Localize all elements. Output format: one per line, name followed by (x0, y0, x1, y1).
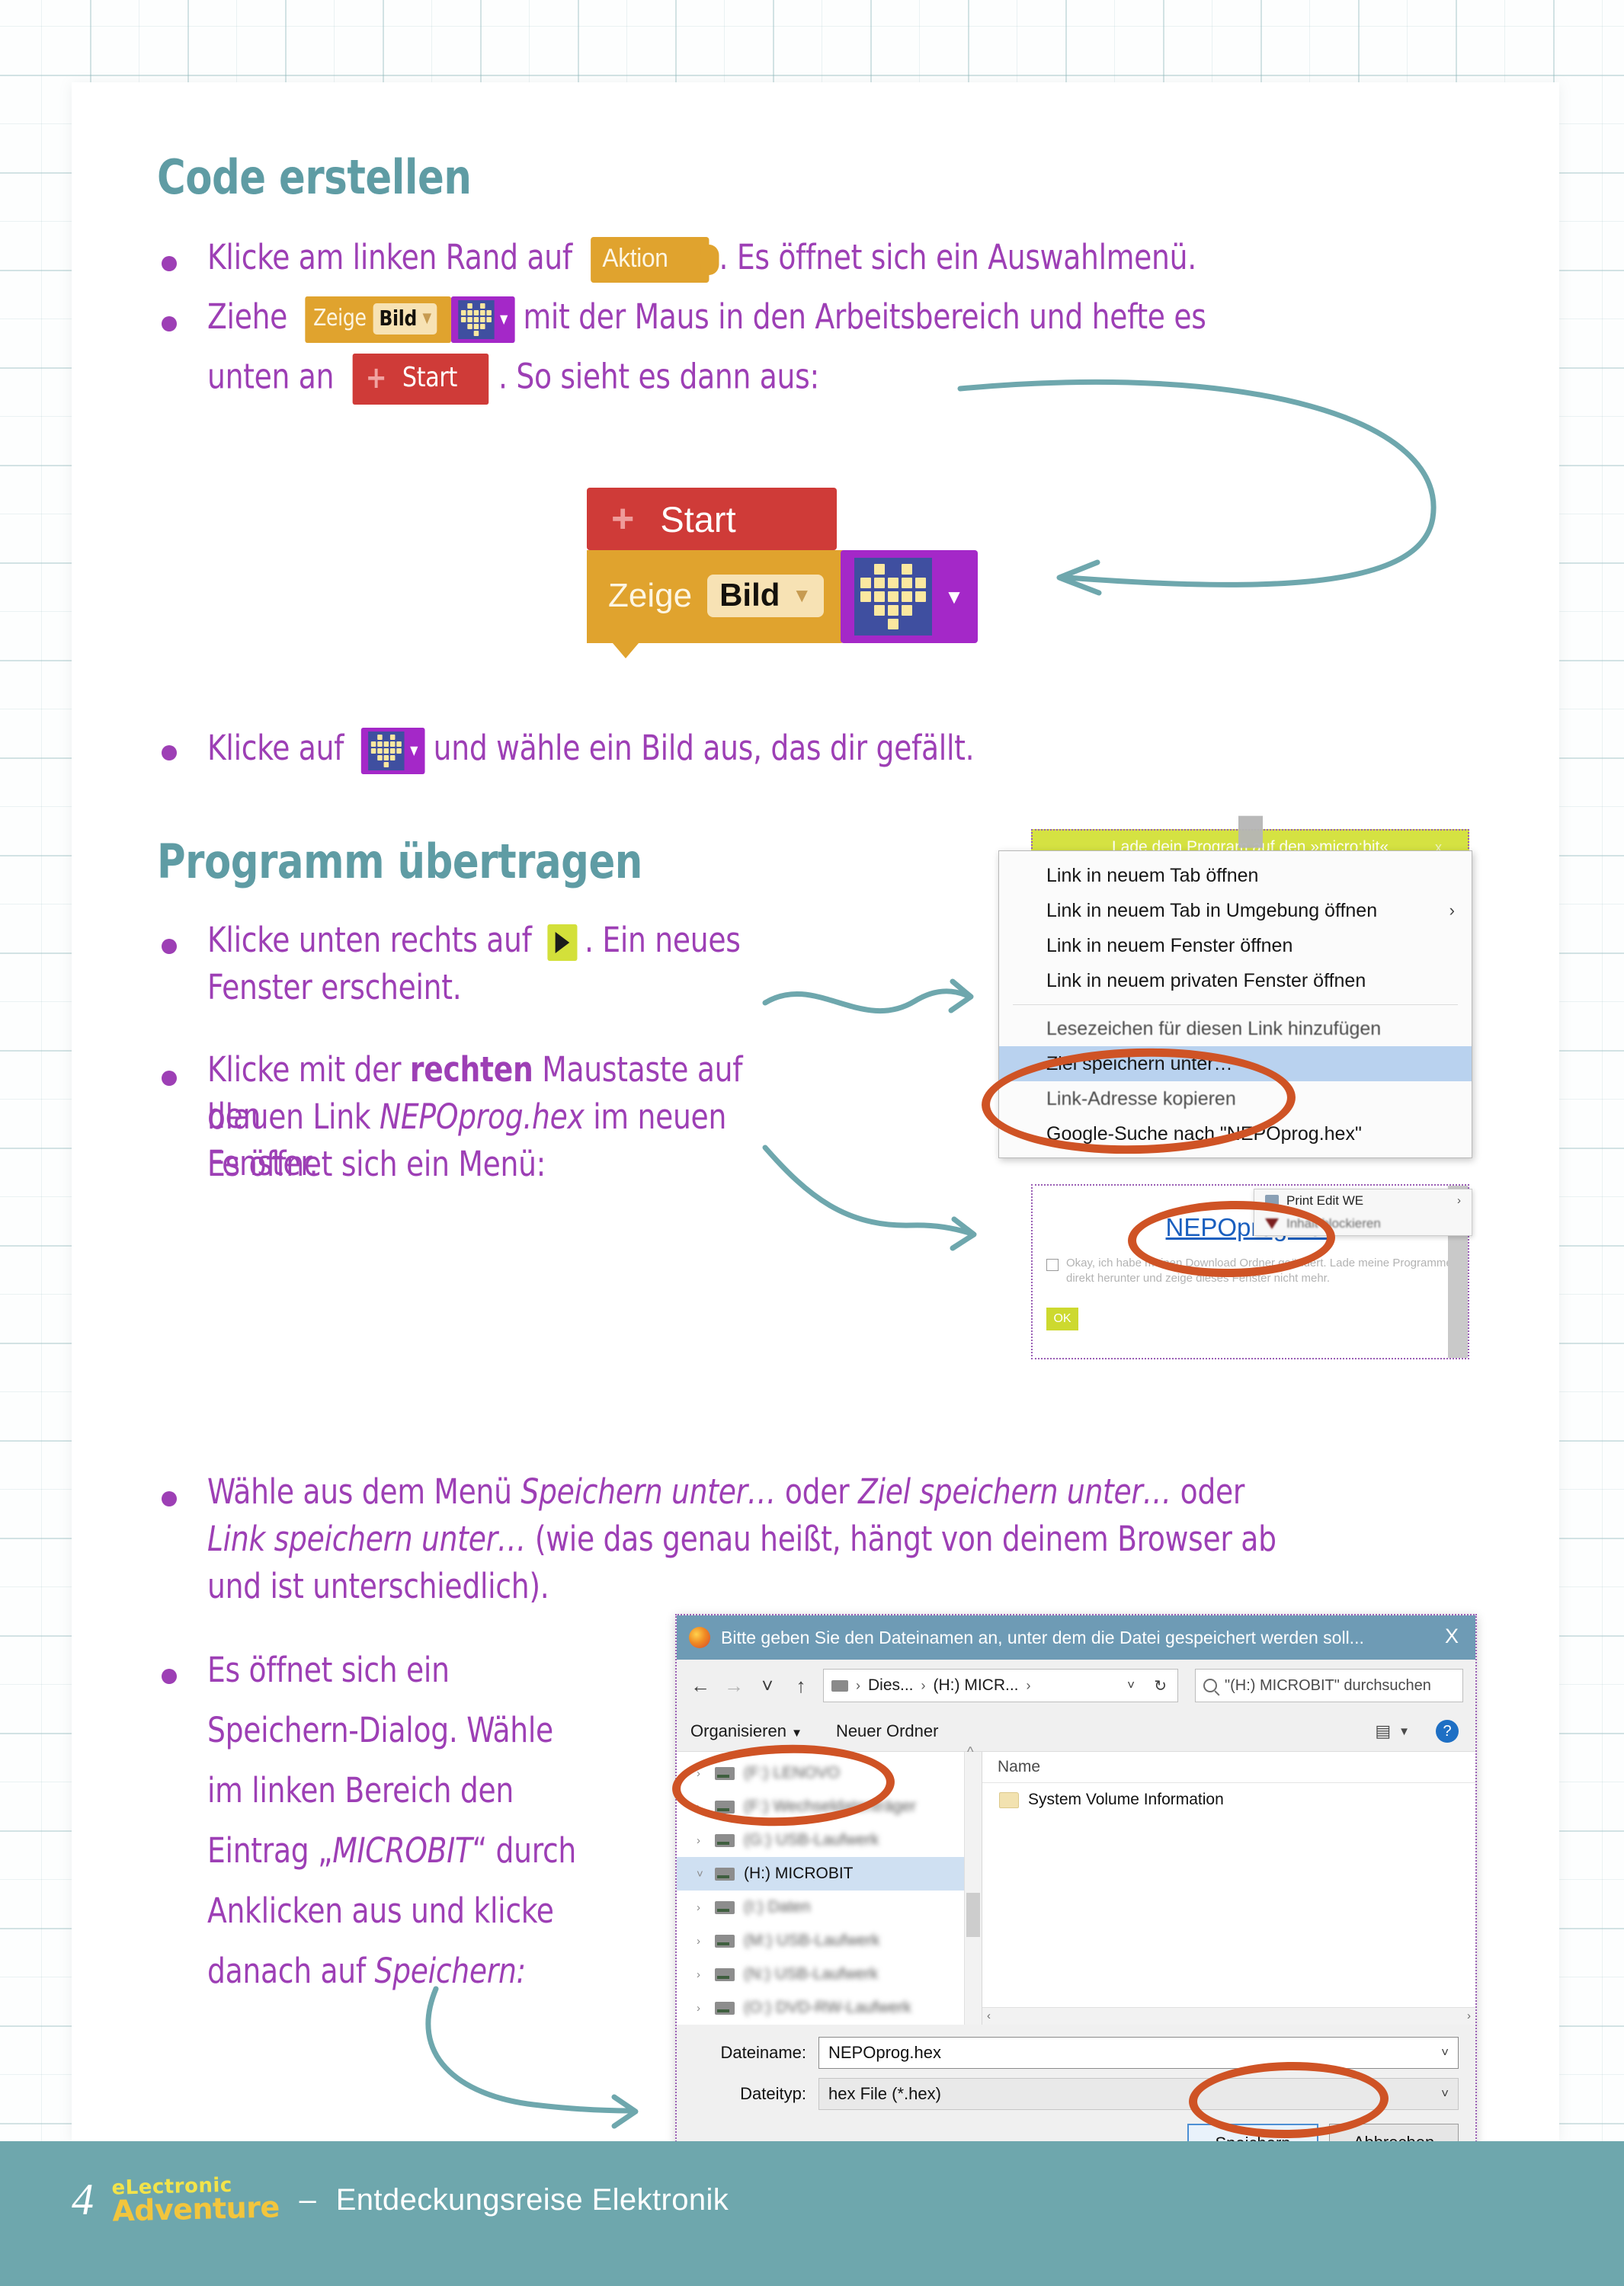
context-menu-item-label: Link in neuem Tab öffnen (1046, 865, 1258, 886)
block-zeige-label: Zeige (313, 303, 367, 335)
page-number: 4 (72, 2178, 92, 2222)
context-menu-item-label: Link in neuem Fenster öffnen (1046, 935, 1292, 956)
plus-icon: + (611, 504, 634, 534)
text-waehle-aus-menue: Wähle aus dem Menü (207, 1471, 521, 1512)
chevron-right-icon: › (1457, 1189, 1461, 1212)
instruction-dialog-l1: Es öffnet sich ein (207, 1647, 633, 1694)
context-menu-item[interactable]: Link in neuem Tab in Umgebung öffnen› (999, 893, 1472, 928)
chevron-icon[interactable]: › (697, 2002, 706, 2015)
context-menu-screenshot: Lade dein Program auf den »micro:bit« x … (998, 829, 1501, 1362)
instruction-ziehe: Ziehe Zeige Bild ▼ ▼ mit der Maus in den… (207, 294, 1356, 343)
play-triangle-icon (556, 932, 570, 953)
instruction-ziehe-pre: Ziehe (207, 296, 287, 337)
led-off (888, 564, 898, 575)
led-off (384, 735, 389, 740)
led-matrix-icon (368, 732, 404, 770)
instruction-menue-oeffnet: Es öffnet sich ein Menü: (207, 1141, 789, 1188)
led-on (860, 591, 871, 602)
tree-item-label: (M:) USB-Laufwerk (744, 1932, 880, 1950)
block-zeige-body[interactable]: Zeige Bild ▼ (305, 296, 451, 343)
led-off (390, 762, 396, 767)
tree-scrollbar[interactable] (964, 1752, 982, 2025)
led-off (371, 735, 376, 740)
dropdown-bild-label: Bild (719, 577, 780, 613)
led-on (377, 755, 383, 760)
block-zeige-bild[interactable]: Zeige Bild ▼ (587, 550, 844, 643)
sort-caret-icon: ^ (967, 1744, 973, 1760)
filename-input[interactable]: NEPOprog.hex ˅ (818, 2037, 1459, 2069)
led-on (390, 748, 396, 754)
instruction-ziehe-mid: mit der Maus in den Arbeitsbereich und h… (523, 296, 1206, 337)
text-microbit: MICROBIT (332, 1830, 472, 1871)
led-on (486, 310, 492, 315)
help-icon[interactable]: ? (1436, 1720, 1459, 1743)
dialog-titlebar: Bitte geben Sie den Dateinamen an, unter… (677, 1615, 1475, 1660)
led-on (474, 324, 479, 329)
code-block-assembly[interactable]: + Start Zeige Bild ▼ ▼ (587, 488, 978, 643)
list-view-icon: ▤ (1375, 1721, 1391, 1741)
chevron-icon[interactable]: › (697, 1935, 706, 1948)
filetype-value: hex File (*.hex) (828, 2084, 941, 2104)
led-off (371, 762, 376, 767)
logo-line-2: Adventure (112, 2194, 280, 2224)
play-button-icon[interactable] (548, 924, 578, 961)
scrollbar-stub (1238, 816, 1263, 848)
filename-label: Dateiname: (693, 2043, 806, 2063)
instruction-klicke-unten-rechts: Klicke unten rechts auf (207, 920, 532, 960)
led-on (902, 564, 912, 575)
led-off (461, 324, 466, 329)
led-on (474, 317, 479, 322)
drive-icon (715, 1868, 735, 1881)
led-on (874, 605, 885, 616)
led-off (860, 564, 871, 575)
instruction-aktion-pre: Klicke am linken Rand auf (207, 237, 572, 277)
led-on (480, 324, 485, 329)
instruction-fenster-erscheint: Fenster erscheint. (207, 965, 774, 1011)
dialog-title: Bitte geben Sie den Dateinamen an, unter… (721, 1628, 1364, 1648)
forward-icon: → (722, 1674, 745, 1698)
up-icon[interactable]: ↑ (790, 1674, 812, 1698)
led-on (390, 735, 396, 740)
dropdown-bild-label: Bild (379, 304, 417, 333)
led-off (467, 331, 472, 336)
tree-item[interactable]: ›(O:) DVD-RW-Laufwerk (677, 1991, 982, 2025)
led-on (377, 748, 383, 754)
led-matrix-icon (854, 558, 932, 636)
file-row[interactable]: System Volume Information (982, 1783, 1475, 1817)
instruction-waehle-menue: Wähle aus dem Menü Speichern unter… oder… (207, 1469, 1369, 1516)
led-on (371, 741, 376, 747)
filename-value: NEPOprog.hex (828, 2043, 941, 2063)
chevron-icon[interactable]: ˅ (697, 1868, 706, 1881)
instruction-klicke-auf: Klicke auf (207, 728, 344, 768)
tree-item-label: (G:) USB-Laufwerk (744, 1831, 879, 1849)
text-rechten: rechten (410, 1049, 533, 1090)
led-off (860, 605, 871, 616)
text-blauen-link: blauen Link (207, 1097, 380, 1137)
block-start-label: Start (660, 498, 735, 540)
context-menu-item-label: Lesezeichen für diesen Link hinzufügen (1046, 1018, 1381, 1039)
search-input[interactable]: "(H:) MICROBIT" durchsuchen (1195, 1669, 1463, 1702)
led-off (396, 762, 402, 767)
tree-item[interactable]: ›(G:) USB-Laufwerk (677, 1823, 982, 1857)
led-on (874, 591, 885, 602)
led-on (390, 755, 396, 760)
breadcrumb-item-0[interactable]: Dies... (868, 1676, 914, 1695)
text-link-speichern-unter: Link speichern unter… (207, 1519, 526, 1559)
led-on (467, 303, 472, 309)
bullet-dot (162, 1669, 177, 1684)
text-klicke-mit-der: Klicke mit der (207, 1049, 410, 1090)
led-off (486, 324, 492, 329)
led-off (915, 605, 926, 616)
context-menu-item[interactable]: Link in neuem privaten Fenster öffnen (999, 963, 1472, 998)
text-oder-2: oder (1171, 1471, 1244, 1512)
chevron-down-icon[interactable]: ˅ (1441, 2086, 1449, 2102)
led-on (396, 748, 402, 754)
horizontal-scrollbar[interactable]: ‹ › (982, 2007, 1475, 2025)
block-notch (613, 643, 639, 658)
led-off (371, 755, 376, 760)
text-browser-hinweis: (wie das genau heißt, hängt von deinem B… (526, 1519, 1276, 1559)
instruction-ein-neues: . Ein neues (585, 920, 741, 960)
bullet-dot (162, 316, 177, 331)
led-on (396, 741, 402, 747)
led-on (874, 578, 885, 588)
file-column-header-label: Name (998, 1758, 1040, 1776)
instruction-klicke-play: Klicke unten rechts auf . Ein neues (207, 917, 774, 964)
block-zeige-label: Zeige (608, 577, 692, 615)
chevron-down-icon: ▼ (1398, 1725, 1410, 1738)
brand-logo: eLectronic Adventure (111, 2176, 280, 2224)
context-menu-item[interactable]: Lesezeichen für diesen Link hinzufügen (999, 1011, 1472, 1046)
led-matrix-icon (458, 300, 494, 339)
led-off (461, 331, 466, 336)
led-on (480, 303, 485, 309)
ok-button[interactable]: OK (1046, 1308, 1078, 1330)
instruction-dialog-l3: im linken Bereich den (207, 1768, 647, 1814)
block-zeige-bild-inline[interactable]: Zeige Bild ▼ ▼ (305, 296, 514, 343)
view-options[interactable]: ▤ ▼ (1375, 1721, 1410, 1741)
instruction-dialog-l2: Speichern-Dialog. Wähle (207, 1708, 647, 1754)
instruction-dialog-l6: danach auf Speichern: (207, 1948, 647, 1995)
file-name: System Volume Information (1028, 1791, 1224, 1809)
filename-row: Dateiname: NEPOprog.hex ˅ (693, 2037, 1459, 2069)
text-nepoprog-hex: NEPOprog.hex (380, 1097, 585, 1137)
led-on (384, 762, 389, 767)
drive-icon (715, 1834, 735, 1847)
led-on (888, 578, 898, 588)
context-menu-item[interactable]: Link in neuem Fenster öffnen (999, 928, 1472, 963)
led-on (377, 741, 383, 747)
block-start-label: Start (402, 360, 457, 397)
context-menu-item-label: Link in neuem Tab in Umgebung öffnen (1046, 900, 1377, 921)
led-on (467, 317, 472, 322)
led-on (384, 748, 389, 754)
bullet-dot (162, 1491, 177, 1506)
bullet-dot (162, 1071, 177, 1086)
plus-icon: + (366, 366, 387, 390)
instruction-dialog-l5: Anklicken aus und klicke (207, 1888, 661, 1935)
bullet-dot (162, 939, 177, 954)
breadcrumb-sep: › (1027, 1678, 1031, 1694)
led-off (486, 331, 492, 336)
block-led-image[interactable]: ▼ (361, 728, 424, 774)
led-off (902, 619, 912, 629)
save-as-dialog[interactable]: Bitte geben Sie den Dateinamen an, unter… (675, 1614, 1477, 2147)
drive-icon (831, 1680, 848, 1692)
chevron-down-icon: ▼ (422, 309, 431, 328)
text-oder-1: oder (776, 1471, 858, 1512)
close-icon[interactable]: X (1445, 1625, 1459, 1648)
block-led-image[interactable]: ▼ (841, 550, 978, 643)
text-ziel-speichern-unter: Ziel speichern unter… (858, 1471, 1171, 1512)
led-on (888, 591, 898, 602)
file-list[interactable]: ^ Name System Volume Information ‹ › (982, 1752, 1475, 2025)
dialog-navbar: ← → ˅ ↑ › Dies... › (H:) MICR... › ˅ ↻ "… (677, 1660, 1475, 1711)
led-on (902, 591, 912, 602)
tree-item-label: (H:) MICROBIT (744, 1865, 853, 1883)
chevron-icon[interactable]: › (697, 1968, 706, 1981)
led-on (915, 591, 926, 602)
led-on (480, 317, 485, 322)
organize-label: Organisieren (690, 1721, 786, 1740)
checkbox-icon[interactable] (1046, 1259, 1059, 1271)
text-speichern: Speichern: (375, 1951, 526, 1991)
tree-item-label: (N:) USB-Laufwerk (744, 1965, 878, 1983)
chevron-down-icon[interactable]: ˅ (1127, 1678, 1135, 1693)
tree-item-label: (I:) Daten (744, 1898, 811, 1916)
led-off (874, 619, 885, 629)
led-off (480, 331, 485, 336)
led-on (371, 748, 376, 754)
drive-icon (715, 1901, 735, 1914)
file-column-header[interactable]: ^ Name (982, 1752, 1475, 1783)
menu-separator (1013, 1004, 1458, 1005)
led-on (384, 741, 389, 747)
led-on (474, 331, 479, 336)
led-on (390, 741, 396, 747)
drive-icon (715, 1935, 735, 1948)
led-off (396, 735, 402, 740)
chevron-right-icon: › (1449, 893, 1455, 928)
led-on (888, 619, 898, 629)
text-durch: “ durch (472, 1830, 576, 1871)
led-on (486, 317, 492, 322)
led-on (384, 755, 389, 760)
led-on (860, 578, 871, 588)
led-on (902, 605, 912, 616)
heading-code-erstellen: Code erstellen (157, 149, 471, 205)
instruction-klicke-bild: Klicke auf ▼ und wähle ein Bild aus, das… (207, 725, 1356, 774)
led-on (874, 564, 885, 575)
scroll-left-icon[interactable]: ‹ (987, 2009, 991, 2022)
instruction-waehle-bild: und wähle ein Bild aus, das dir gefällt. (434, 728, 975, 768)
instruction-link-speichern: Link speichern unter… (wie das genau hei… (207, 1516, 1398, 1563)
tree-item[interactable]: ›(N:) USB-Laufwerk (677, 1958, 982, 1991)
led-off (486, 303, 492, 309)
bullet-dot (162, 745, 177, 760)
block-aktion[interactable]: Aktion (591, 237, 709, 283)
led-on (461, 317, 466, 322)
instruction-aktion: Klicke am linken Rand auf Aktion. Es öff… (207, 235, 1341, 283)
breadcrumb-sep: › (921, 1678, 926, 1694)
led-on (467, 324, 472, 329)
page-footer: 4 eLectronic Adventure – Entdeckungsreis… (0, 2141, 1624, 2286)
instruction-aktion-post: . Es öffnet sich ein Auswahlmenü. (719, 237, 1196, 277)
text-danach-auf: danach auf (207, 1951, 375, 1991)
search-placeholder: "(H:) MICROBIT" durchsuchen (1225, 1677, 1431, 1695)
instruction-unterschiedlich: und ist unterschiedlich). (207, 1564, 1058, 1610)
chevron-down-icon: ▼ (791, 1727, 802, 1740)
firefox-icon (689, 1627, 710, 1648)
bullet-dot (162, 256, 177, 271)
led-off (396, 755, 402, 760)
led-on (902, 578, 912, 588)
submenu-item-label: Print Edit WE (1286, 1193, 1363, 1208)
led-on (461, 310, 466, 315)
text-eintrag: Eintrag „ (207, 1830, 332, 1871)
led-off (915, 619, 926, 629)
chevron-down-icon: ▼ (500, 311, 508, 328)
block-led-image[interactable]: ▼ (451, 296, 514, 343)
refresh-icon[interactable]: ↻ (1154, 1676, 1167, 1695)
instruction-dialog-l4: Eintrag „MICROBIT“ durch (207, 1828, 647, 1875)
led-off (461, 303, 466, 309)
chevron-icon[interactable]: › (697, 1834, 706, 1847)
chevron-down-icon: ▼ (410, 742, 418, 759)
back-icon[interactable]: ← (689, 1674, 712, 1698)
led-off (915, 564, 926, 575)
chevron-down-icon[interactable]: ˅ (1441, 2045, 1449, 2060)
tree-item[interactable]: ˅(H:) MICROBIT (677, 1857, 982, 1891)
tree-item[interactable]: ›(M:) USB-Laufwerk (677, 1924, 982, 1958)
block-start-inline[interactable]: + Start (353, 354, 488, 405)
dropdown-bild[interactable]: Bild ▼ (373, 303, 437, 335)
scroll-right-icon[interactable]: › (1467, 2009, 1471, 2022)
led-on (467, 310, 472, 315)
instruction-unten-an: unten an (207, 356, 334, 396)
text-speichern-unter: Speichern unter… (521, 1471, 776, 1512)
context-menu-item[interactable]: Link in neuem Tab öffnen (999, 858, 1472, 893)
led-on (480, 310, 485, 315)
recent-locations-icon[interactable]: ˅ (756, 1674, 779, 1698)
chevron-down-icon: ▼ (792, 584, 812, 607)
organize-button[interactable]: Organisieren ▼ (690, 1721, 802, 1741)
led-on (377, 735, 383, 740)
chevron-icon[interactable]: › (697, 1901, 706, 1914)
folder-icon (999, 1792, 1019, 1808)
instruction-so-sieht: . So sieht es dann aus: (498, 356, 819, 396)
filetype-label: Dateityp: (693, 2084, 806, 2104)
new-folder-button[interactable]: Neuer Ordner (836, 1721, 939, 1741)
led-on (474, 310, 479, 315)
breadcrumb-item-1[interactable]: (H:) MICR... (934, 1676, 1019, 1695)
footer-title: Entdeckungsreise Elektronik (336, 2183, 729, 2217)
dropdown-bild[interactable]: Bild ▼ (707, 575, 824, 617)
breadcrumb[interactable]: › Dies... › (H:) MICR... › ˅ ↻ (823, 1669, 1178, 1702)
led-off (860, 619, 871, 629)
search-icon (1203, 1679, 1217, 1692)
tree-item-label: (O:) DVD-RW-Laufwerk (744, 1999, 911, 2017)
led-off (377, 762, 383, 767)
breadcrumb-sep: › (856, 1678, 860, 1694)
scrollbar-thumb[interactable] (966, 1893, 980, 1937)
instruction-ziehe-line2: unten an + Start . So sieht es dann aus: (207, 354, 1356, 405)
drive-icon (715, 1968, 735, 1981)
led-on (915, 578, 926, 588)
tree-item[interactable]: ›(I:) Daten (677, 1891, 982, 1924)
block-start[interactable]: + Start (587, 488, 837, 550)
context-menu-item-label: Link in neuem privaten Fenster öffnen (1046, 970, 1366, 991)
led-off (474, 303, 479, 309)
heading-programm-uebertragen: Programm übertragen (157, 834, 642, 889)
footer-dash: – (299, 2183, 316, 2217)
chevron-down-icon: ▼ (944, 585, 964, 609)
led-on (888, 605, 898, 616)
drive-icon (715, 2002, 735, 2015)
